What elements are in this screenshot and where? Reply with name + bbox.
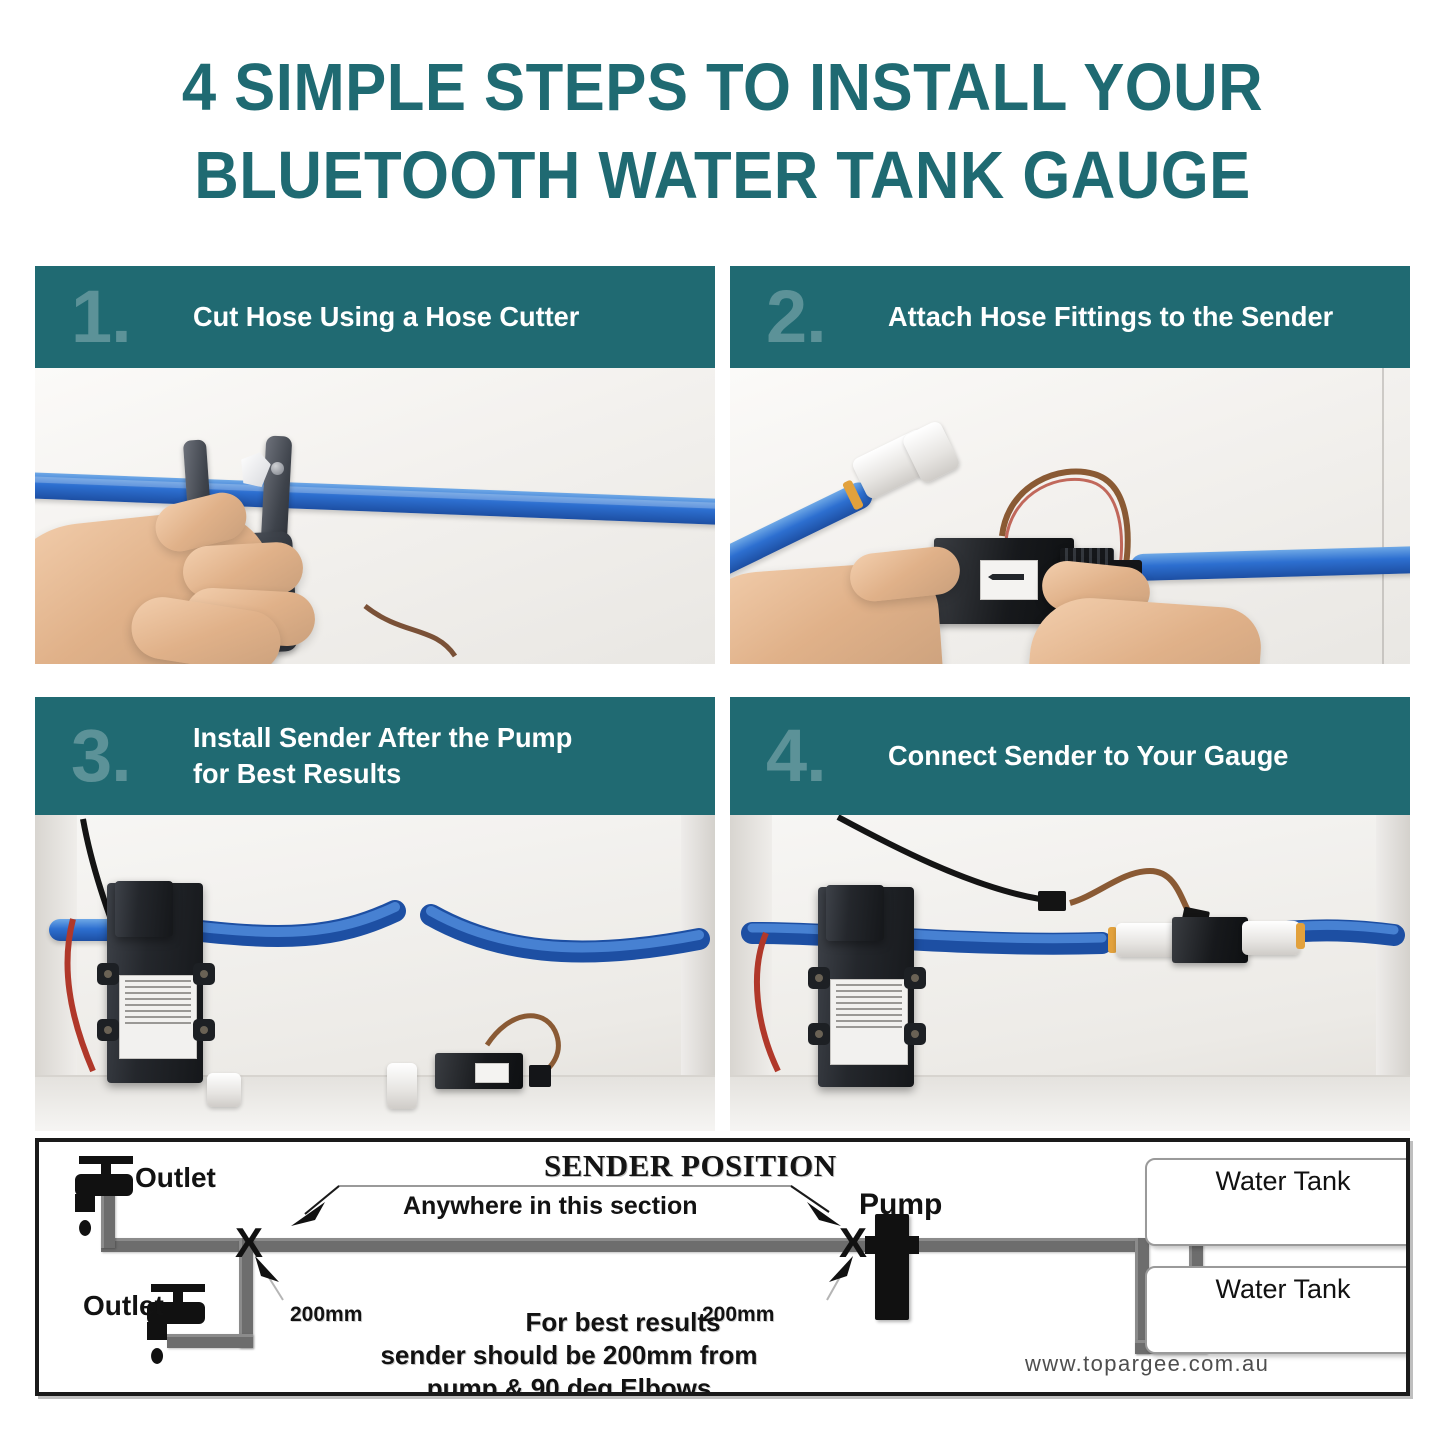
step-2-title: Attach Hose Fittings to the Sender <box>888 299 1347 335</box>
pump-mount-foot-bl <box>97 1019 119 1041</box>
step-panel-4: 4. Connect Sender to Your Gauge <box>730 697 1410 1131</box>
cabinet-floor <box>35 1075 715 1131</box>
pipe-bottom-horizontal <box>167 1334 253 1348</box>
step-panel-3: 3. Install Sender After the Pump for Bes… <box>35 697 715 1131</box>
diagram-canvas: SENDER POSITION <box>39 1142 1406 1392</box>
step-4-number: 4. <box>766 719 854 793</box>
step-1-title: Cut Hose Using a Hose Cutter <box>193 299 593 335</box>
page-title: 4 SIMPLE STEPS TO INSTALL YOUR BLUETOOTH… <box>0 44 1445 220</box>
pump-mount-foot-tr <box>193 963 215 985</box>
step-3-title-line-2: for Best Results <box>193 756 586 792</box>
flow-sender-installed <box>1172 917 1248 963</box>
wire-connector-black <box>1038 891 1066 911</box>
water-tank-bottom: Water Tank <box>1145 1266 1406 1354</box>
step-3-title-wrap: Install Sender After the Pump for Best R… <box>159 720 598 792</box>
step-3-number: 3. <box>71 719 159 793</box>
step-4-photo <box>730 815 1410 1131</box>
step-2-photo <box>730 368 1410 664</box>
step-3-title: Install Sender After the Pump <box>193 720 586 756</box>
step-4-title: Connect Sender to Your Gauge <box>888 738 1302 774</box>
pump-mount-foot-br <box>193 1019 215 1041</box>
step-1-number: 1. <box>71 280 159 354</box>
pump-mount-foot-tr <box>904 967 926 989</box>
diagram-title: SENDER POSITION <box>544 1148 837 1184</box>
flow-sender-label <box>980 560 1038 600</box>
outlet-bottom-label: Outlet <box>83 1290 164 1322</box>
sender-position-diagram: SENDER POSITION <box>35 1138 1410 1396</box>
step-panel-2: 2. Attach Hose Fittings to the Sender <box>730 266 1410 664</box>
step-1-photo <box>35 368 715 664</box>
pump-mount-foot-tl <box>808 967 830 989</box>
white-fitting-left <box>1116 923 1178 957</box>
section-arrow-right <box>807 1202 841 1226</box>
sender-marker-left: X <box>235 1222 263 1264</box>
step-3-photo <box>35 815 715 1131</box>
step-2-number: 2. <box>766 280 854 354</box>
water-tank-top: Water Tank <box>1145 1158 1406 1246</box>
white-fitting-floor-left <box>207 1073 241 1107</box>
page-title-line-2: BLUETOOTH WATER TANK GAUGE <box>58 132 1387 220</box>
steps-grid: 1. Cut Hose Using a Hose Cutter <box>35 266 1410 1131</box>
sender-floor-connector <box>529 1065 551 1087</box>
section-arrow-left <box>291 1202 325 1226</box>
step-3-header: 3. Install Sender After the Pump for Bes… <box>35 697 715 815</box>
note-line-3: pump & 90 deg Elbows <box>289 1372 849 1392</box>
note-line-2: sender should be 200mm from <box>289 1339 849 1372</box>
step-4-header: 4. Connect Sender to Your Gauge <box>730 697 1410 815</box>
outlet-top-label: Outlet <box>135 1162 216 1194</box>
note-line-1: For best results <box>397 1306 849 1339</box>
pump-icon <box>875 1214 909 1320</box>
page-title-line-1: 4 SIMPLE STEPS TO INSTALL YOUR <box>58 44 1387 132</box>
pump-mount-foot-tl <box>97 963 119 985</box>
step-panel-1: 1. Cut Hose Using a Hose Cutter <box>35 266 715 664</box>
white-fitting-floor-mid <box>387 1063 417 1109</box>
website-url: www.topargee.com.au <box>1025 1351 1269 1377</box>
pump-mount-foot-bl <box>808 1023 830 1045</box>
flow-sender-floor-label <box>475 1063 509 1083</box>
white-fitting-right <box>1242 921 1300 955</box>
section-label: Anywhere in this section <box>403 1192 698 1221</box>
pump-icon-neck <box>865 1236 919 1254</box>
water-tank-bottom-label: Water Tank <box>1147 1274 1406 1305</box>
step-1-header: 1. Cut Hose Using a Hose Cutter <box>35 266 715 368</box>
best-results-note: For best results sender should be 200mm … <box>289 1306 849 1392</box>
water-tank-top-label: Water Tank <box>1147 1166 1406 1197</box>
fitting-band-right <box>1296 923 1305 949</box>
pump-label: Pump <box>859 1188 942 1222</box>
sender-marker-right: X <box>839 1222 867 1264</box>
pump-mount-foot-br <box>904 1023 926 1045</box>
water-pump-head <box>115 881 173 937</box>
dimension-leaders <box>255 1256 853 1300</box>
pipe-outlet-top-drop <box>101 1190 115 1248</box>
wall-corner-seam <box>1382 368 1384 664</box>
water-pump-label <box>830 979 908 1065</box>
step-2-header: 2. Attach Hose Fittings to the Sender <box>730 266 1410 368</box>
water-pump-head <box>826 885 884 941</box>
hose-cutter-pivot-screw <box>271 462 284 475</box>
water-pump-label <box>119 975 197 1059</box>
flow-direction-arrow-icon <box>988 574 1024 580</box>
